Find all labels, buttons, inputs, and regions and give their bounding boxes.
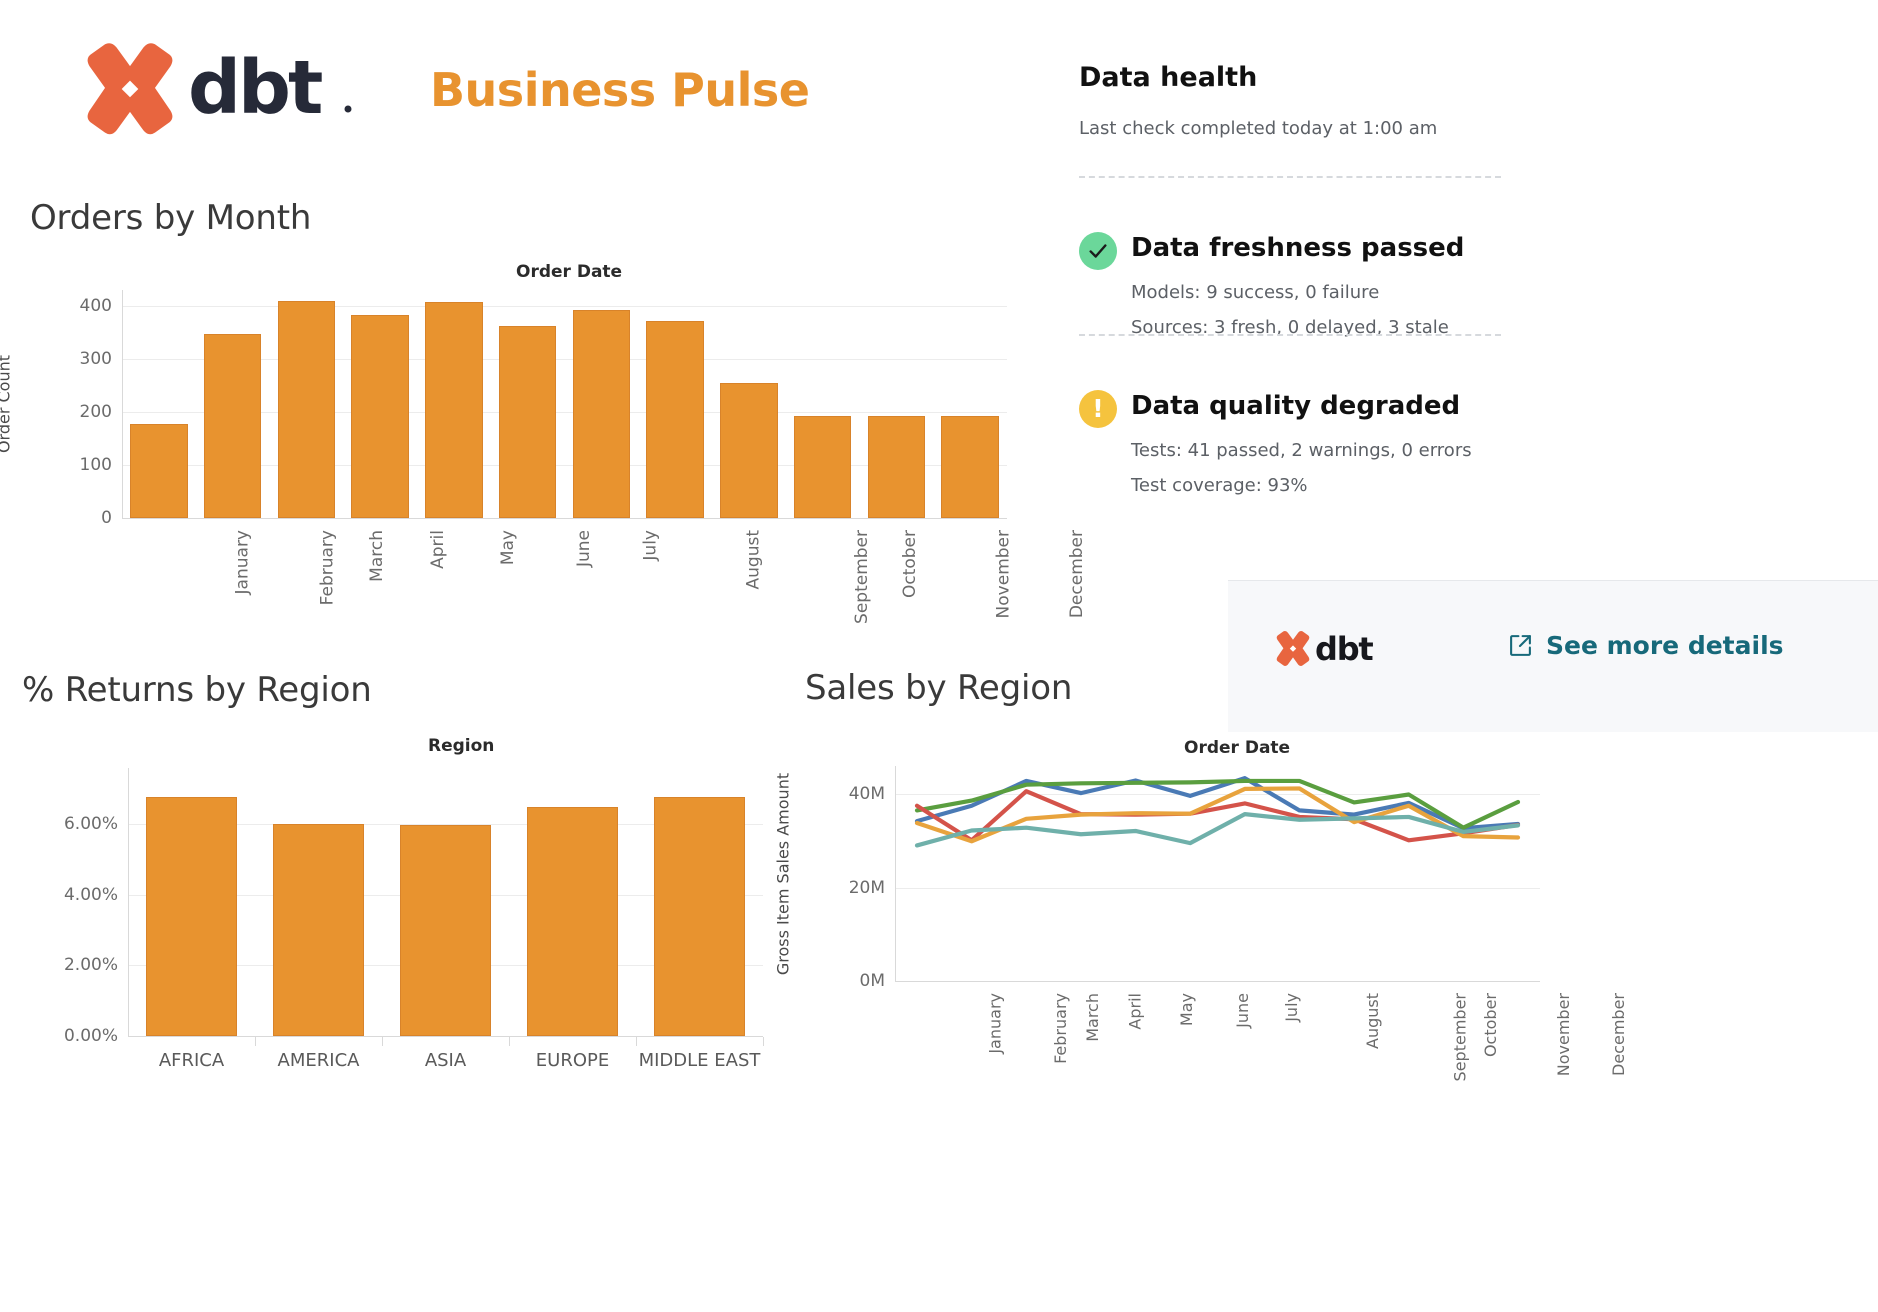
bar xyxy=(130,424,188,518)
y-axis-tick: 40M xyxy=(833,784,885,804)
y-axis-tick: 0M xyxy=(833,971,885,991)
x-axis-tick-mark xyxy=(763,1037,764,1046)
gridline xyxy=(122,306,1007,307)
x-axis-tick-label: AMERICA xyxy=(255,1050,382,1071)
bar xyxy=(273,824,364,1036)
data-health-title: Data health xyxy=(1079,62,1257,93)
details-dbt-logo: dbt xyxy=(1273,629,1389,669)
x-axis-tick-mark xyxy=(382,1037,383,1046)
y-axis-line xyxy=(128,768,129,1036)
x-axis-tick-mark xyxy=(509,1037,510,1046)
line-series xyxy=(917,814,1518,845)
x-axis-tick-label: February xyxy=(317,530,337,605)
bar xyxy=(646,321,704,518)
y-axis-tick: 6.00% xyxy=(18,814,118,834)
health-heading: Data quality degraded xyxy=(1131,391,1460,421)
orders-chart-caption: Order Date xyxy=(516,262,622,282)
x-axis-tick-label: August xyxy=(1363,993,1382,1049)
x-axis-tick-label: April xyxy=(1125,993,1144,1030)
x-axis-tick-label: October xyxy=(900,530,920,598)
svg-text:dbt: dbt xyxy=(1315,630,1373,668)
bar xyxy=(351,315,409,518)
x-axis-line xyxy=(895,981,1540,982)
bar xyxy=(794,416,852,518)
health-heading: Data freshness passed xyxy=(1131,233,1464,263)
x-axis-tick-label: AFRICA xyxy=(128,1050,255,1071)
x-axis-tick-label: August xyxy=(744,530,764,590)
sales-chart-caption: Order Date xyxy=(1184,738,1290,758)
line-series xyxy=(917,788,1518,841)
sales-by-region-chart: Order Date 0M20M40MJanuaryFebruaryMarchA… xyxy=(800,726,1878,1126)
returns-by-region-chart: Region 0.00%2.00%4.00%6.00%AFRICAAMERICA… xyxy=(0,722,800,1122)
header: dbt Business Pulse xyxy=(78,38,810,142)
y-axis-tick: 200 xyxy=(52,402,112,422)
bar xyxy=(146,797,237,1036)
bar xyxy=(573,310,631,518)
see-more-details-label: See more details xyxy=(1546,631,1784,660)
returns-chart-caption: Region xyxy=(428,736,494,756)
data-health-subtitle: Last check completed today at 1:00 am xyxy=(1079,118,1437,139)
y-axis-tick: 2.00% xyxy=(18,955,118,975)
y-axis-tick: 0.00% xyxy=(18,1026,118,1046)
x-axis-line xyxy=(128,1036,763,1037)
x-axis-tick-label: May xyxy=(1177,993,1196,1026)
y-axis-line xyxy=(122,290,123,518)
x-axis-tick-label: EUROPE xyxy=(509,1050,636,1071)
x-axis-tick-label: January xyxy=(986,993,1005,1054)
returns-plot-area: 0.00%2.00%4.00%6.00%AFRICAAMERICAASIAEUR… xyxy=(128,768,763,1036)
x-axis-tick-label: December xyxy=(1067,530,1087,618)
bar xyxy=(499,326,557,518)
sales-plot-area: 0M20M40MJanuaryFebruaryMarchAprilMayJune… xyxy=(895,766,1540,981)
dashboard-page: dbt Business Pulse Orders by Month % Ret… xyxy=(0,0,1878,1312)
divider-top xyxy=(1079,176,1501,178)
y-axis-tick: 100 xyxy=(52,455,112,475)
external-link-icon xyxy=(1508,633,1533,658)
x-axis-tick-label: MIDDLE EAST xyxy=(636,1050,763,1071)
x-axis-tick-label: July xyxy=(1282,993,1301,1022)
bar xyxy=(868,416,926,518)
bar xyxy=(400,825,491,1036)
bar xyxy=(654,797,745,1036)
x-axis-tick-label: March xyxy=(1083,993,1102,1042)
x-axis-tick-label: October xyxy=(1481,993,1500,1057)
divider-middle xyxy=(1079,334,1501,336)
dbt-logo-icon xyxy=(78,38,182,142)
orders-by-month-chart: Order Date 0100200300400JanuaryFebruaryM… xyxy=(0,250,1030,640)
bar xyxy=(278,301,336,518)
svg-text:dbt: dbt xyxy=(188,47,322,131)
page-title: Business Pulse xyxy=(430,63,810,117)
health-detail-line: Models: 9 success, 0 failure xyxy=(1131,282,1379,303)
health-detail-line: Tests: 41 passed, 2 warnings, 0 errors xyxy=(1131,440,1472,461)
bar xyxy=(941,416,999,518)
x-axis-tick-label: November xyxy=(1555,993,1574,1076)
y-axis-title: Order Count xyxy=(0,355,14,453)
x-axis-tick-label: March xyxy=(367,530,387,582)
x-axis-tick-label: January xyxy=(232,530,252,594)
x-axis-tick-label: November xyxy=(994,530,1014,618)
see-more-details-link[interactable]: See more details xyxy=(1508,631,1784,660)
dbt-logo-icon-small xyxy=(1273,629,1313,669)
bar xyxy=(425,302,483,518)
warning-circle-icon: ! xyxy=(1079,390,1117,428)
dbt-wordmark-small: dbt xyxy=(1315,629,1389,669)
x-axis-tick-label: ASIA xyxy=(382,1050,509,1071)
x-axis-tick-label: September xyxy=(1451,993,1470,1081)
y-axis-tick: 400 xyxy=(52,296,112,316)
check-circle-icon xyxy=(1079,232,1117,270)
x-axis-tick-label: May xyxy=(498,530,518,565)
y-axis-tick: 20M xyxy=(833,878,885,898)
x-axis-tick-label: June xyxy=(1233,993,1252,1028)
x-axis-tick-label: December xyxy=(1609,993,1628,1076)
bar xyxy=(204,334,262,518)
y-axis-title: Gross Item Sales Amount xyxy=(774,772,793,974)
sales-lines xyxy=(895,766,1540,981)
x-axis-tick-label: April xyxy=(428,530,448,569)
x-axis-tick-label: June xyxy=(574,530,594,567)
dbt-wordmark: dbt xyxy=(188,47,360,133)
bar xyxy=(527,807,618,1036)
bar xyxy=(720,383,778,518)
x-axis-tick-label: February xyxy=(1051,993,1070,1064)
x-axis-tick-label: September xyxy=(852,530,872,624)
x-axis-tick-mark xyxy=(255,1037,256,1046)
orders-section-title: Orders by Month xyxy=(30,198,311,238)
y-axis-tick: 0 xyxy=(52,508,112,528)
y-axis-tick: 4.00% xyxy=(18,885,118,905)
health-detail-line: Test coverage: 93% xyxy=(1131,475,1308,496)
y-axis-tick: 300 xyxy=(52,349,112,369)
see-more-details-card: dbt See more details xyxy=(1228,580,1878,732)
x-axis-tick-label: July xyxy=(641,530,661,561)
orders-plot-area: 0100200300400JanuaryFebruaryMarchAprilMa… xyxy=(122,290,1007,755)
x-axis-tick-mark xyxy=(636,1037,637,1046)
x-axis-line xyxy=(122,518,1007,519)
